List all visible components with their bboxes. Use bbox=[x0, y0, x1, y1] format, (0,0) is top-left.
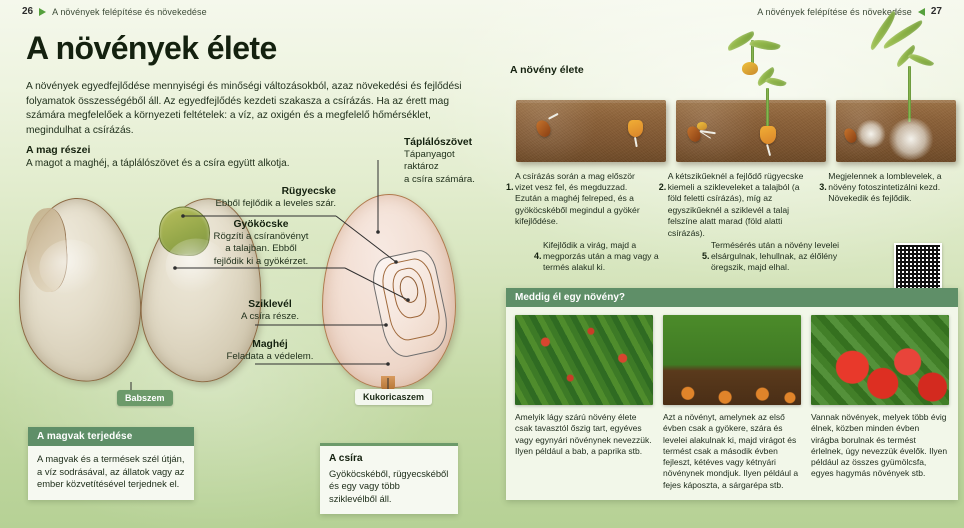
callout-rugyecske: Rügyecske Ebből fejlődik a leveles szár. bbox=[140, 185, 336, 210]
step-number: 4. bbox=[534, 251, 542, 262]
photo-strip bbox=[506, 307, 958, 405]
step-text: Kifejlődik a virág, majd a megporzás utá… bbox=[534, 240, 664, 274]
corn-kernel bbox=[322, 194, 456, 388]
step-text: A kétszikűeknél a fejlődő rügyecske kiem… bbox=[659, 171, 806, 239]
intro-paragraph: A növények egyedfejlődése mennyiségi és … bbox=[26, 80, 472, 138]
triangle-left-icon bbox=[918, 8, 925, 16]
seed-parts-heading: A mag részei bbox=[26, 144, 356, 156]
step-number: 2. bbox=[659, 182, 667, 193]
badge-bean: Babszem bbox=[117, 390, 173, 406]
callout-text: A csíra része. bbox=[200, 311, 340, 323]
qr-pattern bbox=[896, 245, 940, 289]
caption-annual: Amelyik lágy szárú növény élete csak tav… bbox=[515, 412, 653, 491]
bean-plant-photo bbox=[515, 315, 653, 405]
panel2-cotyledon bbox=[697, 122, 707, 130]
callout-sziklevel: Sziklevél A csíra része. bbox=[200, 298, 340, 323]
carrot-field-photo bbox=[663, 315, 801, 405]
callout-text: Tápanyagot raktároz a csíra számára. bbox=[404, 149, 490, 186]
callout-title: Rügyecske bbox=[140, 185, 336, 198]
panel2-corn-seed bbox=[760, 126, 776, 144]
step-4: 4. Kifejlődik a virág, majd a megporzás … bbox=[534, 251, 664, 274]
callout-title: Gyököcske bbox=[186, 218, 336, 231]
panel2-corn-stem bbox=[766, 88, 769, 128]
germ-box-body: A csíra Gyököcskéből, rügyecskéből és eg… bbox=[320, 446, 458, 514]
step-number: 3. bbox=[819, 182, 827, 193]
caption-biennial: Azt a növényt, amelynek az első évben cs… bbox=[663, 412, 801, 491]
callout-gyokocske: Gyököcske Rögzíti a csíranövényt a talaj… bbox=[186, 218, 336, 268]
seed-dispersal-box: A magvak terjedése A magvak és a termése… bbox=[28, 427, 194, 500]
callout-taplaloszovet: Táplálószövet Tápanyagot raktároz a csír… bbox=[404, 136, 490, 186]
seed-dispersal-text: A magvak és a termések szél útján, a víz… bbox=[28, 446, 194, 500]
deco-seed-cotyledon bbox=[742, 62, 758, 75]
step-text: Termésérés után a növény levelei elsárgu… bbox=[702, 240, 852, 274]
right-page-number: 27 bbox=[931, 6, 942, 17]
step-list: 1. A csírázás során a mag először vizet … bbox=[506, 182, 958, 274]
step-5: 5. Termésérés után a növény levelei elsá… bbox=[702, 251, 852, 274]
triangle-right-icon bbox=[39, 8, 46, 16]
badge-corn: Kukoricaszem bbox=[355, 389, 432, 405]
page-title: A növények élete bbox=[26, 30, 277, 67]
right-page-subtitle: A növény élete bbox=[510, 64, 584, 76]
step-number: 5. bbox=[702, 251, 710, 262]
caption-perennial: Vannak növények, melyek több évig élnek,… bbox=[811, 412, 949, 491]
step-number: 1. bbox=[506, 182, 514, 193]
callout-title: Maghéj bbox=[200, 338, 340, 351]
panel1-corn-seed bbox=[628, 120, 643, 137]
header-right: A növények felépítése és növekedése 27 bbox=[757, 6, 942, 17]
seed-parts-text: A magot a maghéj, a táplálószövet és a c… bbox=[26, 157, 356, 171]
tomato-plant-photo bbox=[811, 315, 949, 405]
seed-parts-section: A mag részei A magot a maghéj, a tápláló… bbox=[26, 144, 356, 171]
germ-box: A csíra Gyököcskéből, rügyecskéből és eg… bbox=[320, 443, 458, 514]
callout-text: Rögzíti a csíranövényt a talajban. Ebből… bbox=[186, 231, 336, 268]
callout-maghej: Maghéj Feladata a védelem. bbox=[200, 338, 340, 363]
seed-dispersal-heading: A magvak terjedése bbox=[28, 427, 194, 446]
callout-title: Sziklevél bbox=[200, 298, 340, 311]
step-text: A csírázás során a mag először vizet ves… bbox=[506, 171, 645, 228]
left-chapter-title: A növények felépítése és növekedése bbox=[52, 7, 207, 17]
step-1: 1. A csírázás során a mag először vizet … bbox=[506, 182, 645, 239]
caption-strip: Amelyik lágy szárú növény élete csak tav… bbox=[506, 405, 958, 500]
step-row-bottom: 4. Kifejlődik a virág, majd a megporzás … bbox=[506, 251, 958, 274]
callout-text: Ebből fejlődik a leveles szár. bbox=[140, 198, 336, 210]
step-2: 2. A kétszikűeknél a fejlődő rügyecske k… bbox=[659, 182, 806, 239]
plant-lifespan-heading: Meddig él egy növény? bbox=[506, 288, 958, 307]
panel3-corn-root-mass bbox=[888, 118, 934, 160]
header-left: 26 A növények felépítése és növekedése bbox=[22, 6, 207, 17]
germ-box-heading: A csíra bbox=[329, 453, 449, 466]
qr-code-icon[interactable] bbox=[894, 243, 942, 291]
step-row-top: 1. A csírázás során a mag először vizet … bbox=[506, 182, 958, 239]
panel3-corn-stem bbox=[908, 66, 911, 122]
panel3-bean-root-mass bbox=[856, 120, 886, 148]
germ-box-text: Gyököcskéből, rügyecskéből és egy vagy t… bbox=[329, 468, 448, 504]
callout-text: Feladata a védelem. bbox=[200, 351, 340, 363]
left-page-number: 26 bbox=[22, 6, 33, 17]
plant-lifespan-box: Meddig él egy növény? Amelyik lágy szárú… bbox=[506, 288, 958, 500]
step-3: 3. Megjelennek a lomblevelek, a növény f… bbox=[819, 182, 958, 239]
bean-half-left bbox=[12, 194, 147, 386]
step-text: Megjelennek a lomblevelek, a növény foto… bbox=[819, 171, 958, 205]
callout-title: Táplálószövet bbox=[404, 136, 490, 149]
textbook-spread: 26 A növények felépítése és növekedése A… bbox=[0, 0, 964, 528]
panel3-corn-leaf bbox=[908, 50, 935, 70]
